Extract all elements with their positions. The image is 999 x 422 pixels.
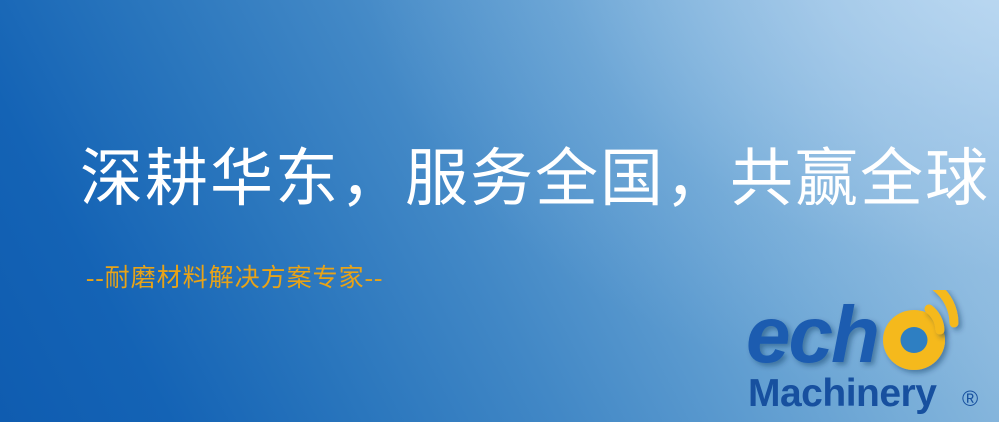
logo-tagline-text: Machinery — [748, 372, 937, 415]
banner-headline: 深耕华东，服务全国，共赢全球 — [80, 148, 990, 211]
logo-wordmark-ech: ech — [746, 290, 878, 379]
promo-banner: 深耕华东，服务全国，共赢全球 --耐磨材料解决方案专家-- ech — [0, 0, 999, 422]
logo-tagline: Machinery ® — [748, 372, 978, 415]
banner-subtitle: --耐磨材料解决方案专家-- — [86, 266, 383, 291]
logo-wordmark-text: ech — [746, 290, 878, 379]
registered-mark: ® — [962, 386, 978, 411]
echo-machinery-logo: ech Machinery ® — [744, 290, 999, 422]
